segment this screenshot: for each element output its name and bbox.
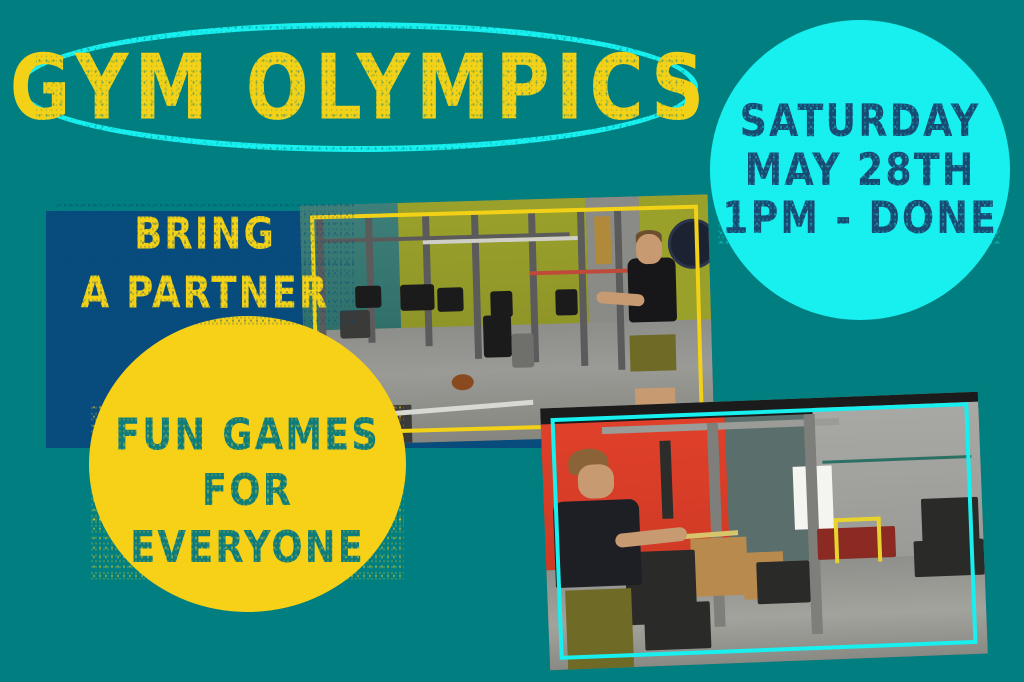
partner-line-1: BRING: [60, 205, 350, 264]
date-date: MAY 28TH: [745, 148, 976, 193]
event-poster: GYM OLYMPICS SATURDAY MAY 28TH 1PM - DON…: [0, 0, 1024, 682]
date-badge: SATURDAY MAY 28TH 1PM - DONE: [710, 20, 1010, 320]
page-title: GYM OLYMPICS: [40, 27, 680, 149]
fun-games-text: FUN GAMES FOR EVERYONE: [95, 407, 400, 575]
fun-line-1: FUN GAMES: [95, 407, 400, 463]
partner-line-2: A PARTNER: [60, 264, 350, 323]
photo-scene-red: [540, 392, 988, 671]
date-day: SATURDAY: [740, 99, 981, 144]
date-time: 1PM - DONE: [722, 196, 998, 241]
fun-line-2: FOR: [95, 463, 400, 519]
partner-text: BRING A PARTNER: [60, 205, 350, 323]
fun-line-3: EVERYONE: [95, 519, 400, 575]
gym-red-wall-photo: [540, 392, 988, 671]
